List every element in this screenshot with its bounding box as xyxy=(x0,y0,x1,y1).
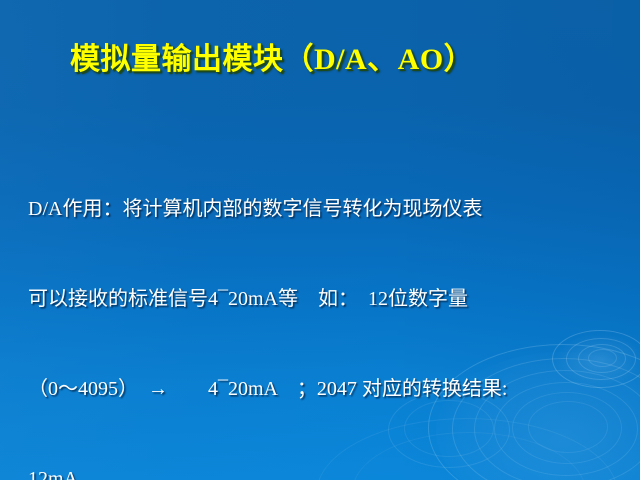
body-line-1: D/A作用：将计算机内部的数字信号转化为现场仪表 xyxy=(28,194,620,224)
slide-title: 模拟量输出模块（D/A、AO） xyxy=(70,34,474,78)
slide-canvas: 模拟量输出模块（D/A、AO） D/A作用：将计算机内部的数字信号转化为现场仪表… xyxy=(0,0,640,480)
body-line-2: 可以接收的标准信号4¯20mA等 如： 12位数字量 xyxy=(28,284,620,314)
body-line-3: （0～4095） → 4¯20mA ；2047 对应的转换结果: xyxy=(28,374,620,404)
body-line-4: 12mA xyxy=(28,464,620,480)
slide-body: D/A作用：将计算机内部的数字信号转化为现场仪表 可以接收的标准信号4¯20mA… xyxy=(28,134,620,480)
